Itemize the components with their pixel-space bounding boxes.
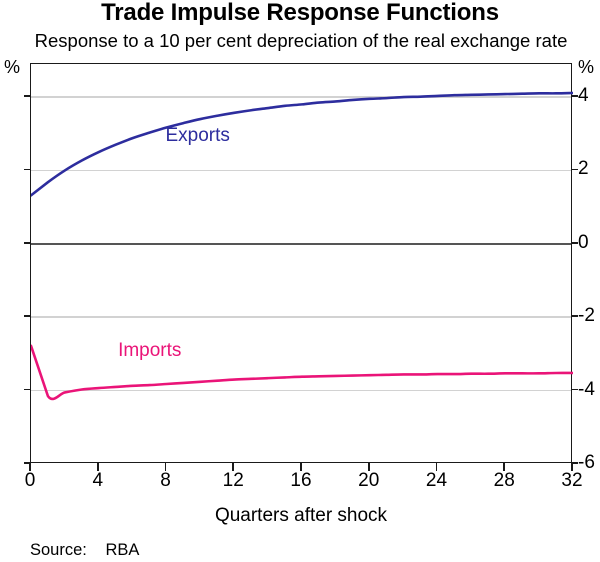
source-note: Source: RBA (30, 540, 139, 560)
series-label-exports: Exports (166, 125, 230, 147)
y-tick-mark (24, 389, 30, 391)
x-tick-label: 8 (136, 470, 196, 492)
y-axis-unit-left: % (4, 57, 20, 77)
source-label: Source: (30, 541, 87, 559)
series-line-exports (31, 93, 573, 195)
y-tick-label: -4 (578, 380, 600, 399)
series-line-imports (31, 346, 573, 399)
chart-page: Trade Impulse Response Functions Respons… (0, 0, 600, 562)
x-tick-label: 16 (271, 470, 331, 492)
plot-area (30, 63, 572, 463)
y-tick-label: 4 (578, 86, 600, 105)
x-tick-label: 28 (474, 470, 534, 492)
y-axis-unit-right: % (578, 57, 594, 77)
y-tick-label: 0 (578, 233, 600, 252)
y-tick-label: 2 (578, 159, 600, 178)
y-tick-mark (24, 169, 30, 171)
x-tick-label: 12 (203, 470, 263, 492)
page-title: Trade Impulse Response Functions (0, 0, 600, 28)
x-tick-label: 0 (0, 470, 60, 492)
x-tick-label: 4 (68, 470, 128, 492)
series-label-imports: Imports (118, 340, 181, 362)
source-value: RBA (105, 541, 139, 559)
x-tick-label: 32 (542, 470, 600, 492)
y-tick-mark (24, 95, 30, 97)
x-tick-label: 24 (407, 470, 467, 492)
series-lines-layer (31, 64, 573, 464)
chart-subtitle: Response to a 10 per cent depreciation o… (2, 29, 600, 53)
y-tick-mark (24, 315, 30, 317)
y-tick-mark (24, 242, 30, 244)
x-axis-title: Quarters after shock (30, 504, 572, 528)
y-tick-label: -2 (578, 306, 600, 325)
x-tick-label: 20 (339, 470, 399, 492)
